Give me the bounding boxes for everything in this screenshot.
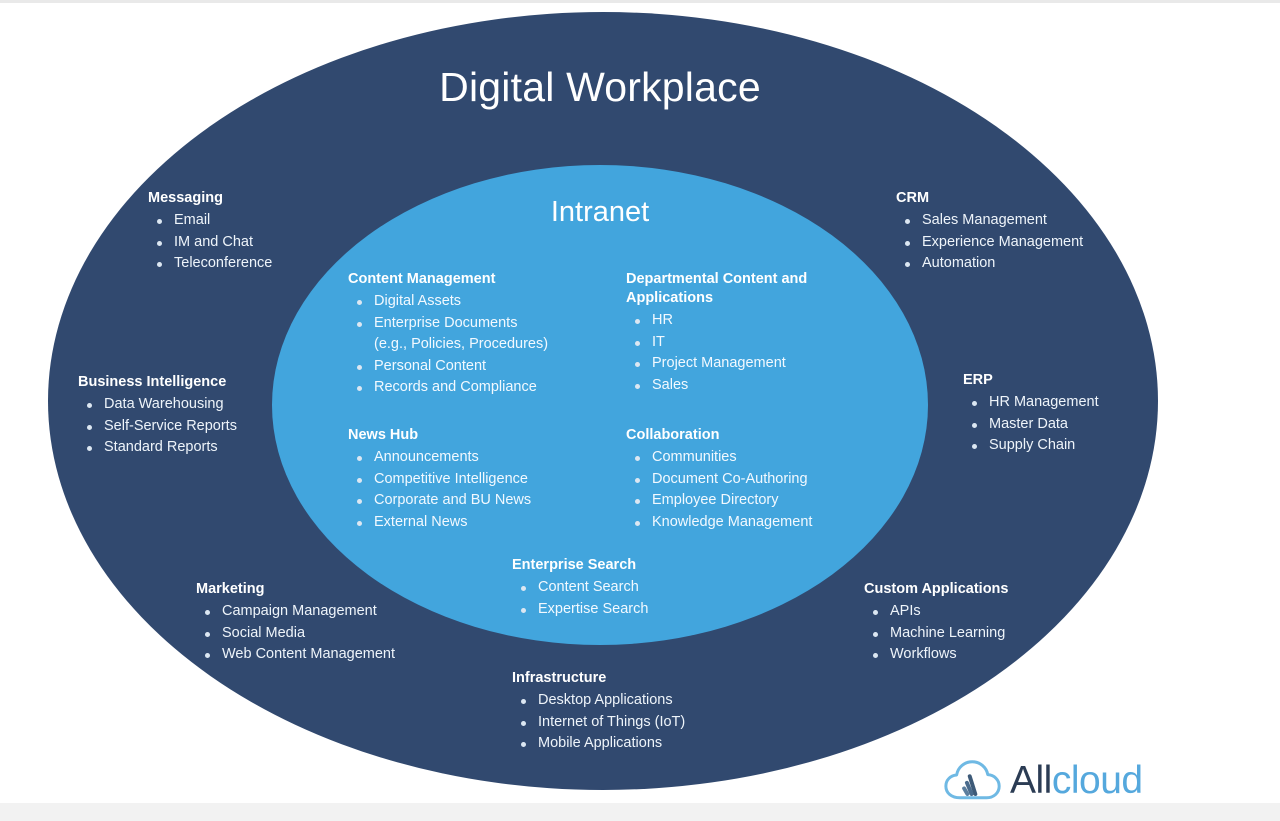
list-item: Email [148, 210, 272, 232]
list-item: Corporate and BU News [348, 490, 531, 512]
list-item: HR Management [963, 392, 1099, 414]
list-item: Digital Assets [348, 291, 548, 313]
group-infrastructure-list: Desktop Applications Internet of Things … [512, 690, 685, 755]
group-messaging: Messaging Email IM and Chat Teleconferen… [148, 189, 272, 275]
group-content-management-list: Digital Assets Enterprise Documents (e.g… [348, 291, 548, 399]
list-item: Experience Management [896, 232, 1083, 254]
list-item: External News [348, 512, 531, 534]
group-custom-applications: Custom Applications APIs Machine Learnin… [864, 580, 1008, 666]
group-infrastructure: Infrastructure Desktop Applications Inte… [512, 669, 685, 755]
group-collaboration: Collaboration Communities Document Co-Au… [626, 426, 812, 533]
group-marketing: Marketing Campaign Management Social Med… [196, 580, 395, 666]
group-enterprise-search: Enterprise Search Content Search Experti… [512, 556, 648, 620]
list-item: Data Warehousing [78, 394, 237, 416]
diagram-canvas: Digital Workplace Intranet Messaging Ema… [0, 0, 1280, 821]
group-erp: ERP HR Management Master Data Supply Cha… [963, 371, 1099, 457]
group-crm: CRM Sales Management Experience Manageme… [896, 189, 1083, 275]
digital-workplace-title: Digital Workplace [0, 64, 1200, 111]
list-item: Desktop Applications [512, 690, 685, 712]
group-departmental-content: Departmental Content and Applications HR… [626, 270, 856, 396]
group-content-management: Content Management Digital Assets Enterp… [348, 270, 548, 399]
list-item: Teleconference [148, 253, 272, 275]
list-item: Announcements [348, 447, 531, 469]
list-item: Web Content Management [196, 644, 395, 666]
list-item: Enterprise Documents [348, 313, 548, 335]
logo-word-cloud: cloud [1052, 759, 1143, 802]
group-content-management-heading: Content Management [348, 270, 548, 289]
list-item: APIs [864, 601, 1008, 623]
allcloud-logo: Allcloud [944, 752, 1159, 808]
list-item: IT [626, 332, 856, 354]
group-business-intelligence-heading: Business Intelligence [78, 373, 237, 392]
group-enterprise-search-heading: Enterprise Search [512, 556, 648, 575]
group-crm-list: Sales Management Experience Management A… [896, 210, 1083, 275]
list-item: Document Co-Authoring [626, 469, 812, 491]
group-erp-list: HR Management Master Data Supply Chain [963, 392, 1099, 457]
group-news-hub-heading: News Hub [348, 426, 531, 445]
group-news-hub: News Hub Announcements Competitive Intel… [348, 426, 531, 533]
group-business-intelligence: Business Intelligence Data Warehousing S… [78, 373, 237, 459]
list-item: Mobile Applications [512, 733, 685, 755]
group-marketing-heading: Marketing [196, 580, 395, 599]
group-news-hub-list: Announcements Competitive Intelligence C… [348, 447, 531, 533]
group-custom-applications-list: APIs Machine Learning Workflows [864, 601, 1008, 666]
group-erp-heading: ERP [963, 371, 1099, 390]
list-item: Machine Learning [864, 623, 1008, 645]
list-item: Self-Service Reports [78, 416, 237, 438]
group-infrastructure-heading: Infrastructure [512, 669, 685, 688]
list-item: Master Data [963, 414, 1099, 436]
list-item: Campaign Management [196, 601, 395, 623]
list-item: Supply Chain [963, 435, 1099, 457]
list-item: Social Media [196, 623, 395, 645]
list-item: Employee Directory [626, 490, 812, 512]
group-collaboration-list: Communities Document Co-Authoring Employ… [626, 447, 812, 533]
list-item: Sales [626, 375, 856, 397]
cloud-icon [944, 757, 1002, 803]
top-frame-line [0, 0, 1280, 3]
list-item: Automation [896, 253, 1083, 275]
list-item-continuation: (e.g., Policies, Procedures) [348, 334, 548, 356]
group-business-intelligence-list: Data Warehousing Self-Service Reports St… [78, 394, 237, 459]
list-item: IM and Chat [148, 232, 272, 254]
list-item: Communities [626, 447, 812, 469]
list-item: Workflows [864, 644, 1008, 666]
group-crm-heading: CRM [896, 189, 1083, 208]
list-item: Expertise Search [512, 599, 648, 621]
group-enterprise-search-list: Content Search Expertise Search [512, 577, 648, 620]
list-item: Knowledge Management [626, 512, 812, 534]
group-departmental-content-heading: Departmental Content and Applications [626, 270, 846, 308]
intranet-title: Intranet [272, 196, 928, 229]
list-item: HR [626, 310, 856, 332]
list-item: Standard Reports [78, 437, 237, 459]
list-item: Content Search [512, 577, 648, 599]
list-item: Project Management [626, 353, 856, 375]
list-item: Personal Content [348, 356, 548, 378]
list-item: Internet of Things (IoT) [512, 712, 685, 734]
logo-word-all: All [1010, 759, 1052, 802]
list-item: Records and Compliance [348, 377, 548, 399]
group-messaging-list: Email IM and Chat Teleconference [148, 210, 272, 275]
allcloud-wordmark: Allcloud [1010, 761, 1143, 800]
group-custom-applications-heading: Custom Applications [864, 580, 1008, 599]
bottom-frame-line [0, 803, 1280, 821]
list-item: Competitive Intelligence [348, 469, 531, 491]
list-item: Sales Management [896, 210, 1083, 232]
group-messaging-heading: Messaging [148, 189, 272, 208]
group-collaboration-heading: Collaboration [626, 426, 812, 445]
group-marketing-list: Campaign Management Social Media Web Con… [196, 601, 395, 666]
group-departmental-content-list: HR IT Project Management Sales [626, 310, 856, 396]
